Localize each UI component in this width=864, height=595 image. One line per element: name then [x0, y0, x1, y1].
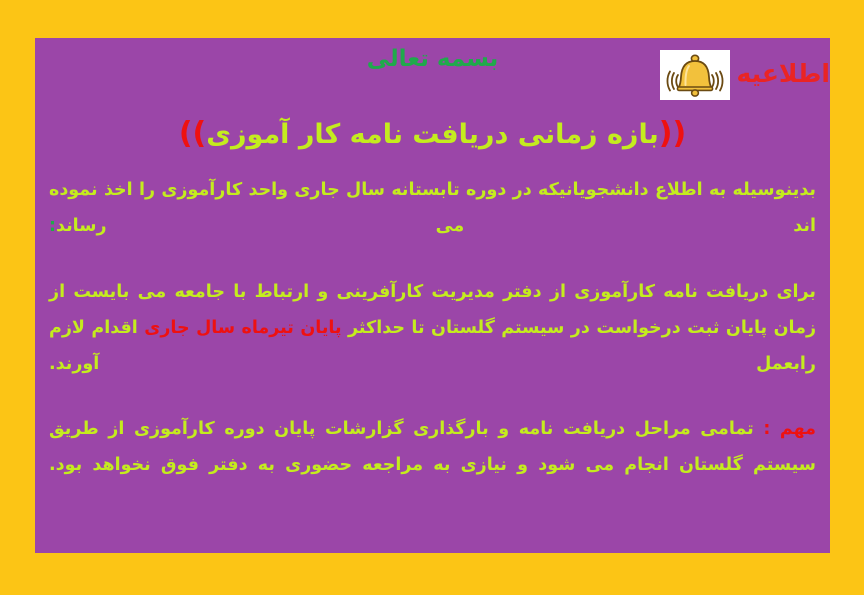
announcement-panel: بسمه تعالی اطلاعیه [35, 38, 830, 553]
paragraph-2: برای دریافت نامه کارآموزی از دفتر مدیریت… [49, 275, 816, 383]
page-title: ((بازه زمانی دریافت نامه کار آموزی)) [35, 116, 830, 151]
paragraph-1: بدینوسیله به اطلاع دانشجویانیکه در دوره … [49, 173, 816, 245]
title-open-quote: (( [659, 116, 686, 151]
paragraph-1-colon: : [49, 216, 56, 236]
paragraph-1-line1: بدینوسیله به اطلاع دانشجویانیکه در دوره … [104, 180, 816, 200]
header-row: بسمه تعالی اطلاعیه [35, 38, 830, 110]
announcement-body: بدینوسیله به اطلاع دانشجویانیکه در دوره … [35, 173, 830, 484]
notice-label: اطلاعیه [736, 61, 830, 90]
bell-icon [660, 50, 730, 100]
paragraph-3-label: مهم : [763, 419, 816, 439]
notice-group: اطلاعیه [660, 50, 830, 100]
paragraph-3: مهم : تمامی مراحل دریافت نامه و بارگذاری… [49, 412, 816, 484]
title-text: بازه زمانی دریافت نامه کار آموزی [206, 119, 659, 150]
paragraph-2-highlight: پایان تیرماه سال جاری [144, 318, 341, 338]
paragraph-3-text: تمامی مراحل دریافت نامه و بارگذاری گزارش… [49, 419, 816, 475]
title-close-quote: )) [179, 116, 206, 151]
announcement-page: بسمه تعالی اطلاعیه [0, 0, 864, 595]
